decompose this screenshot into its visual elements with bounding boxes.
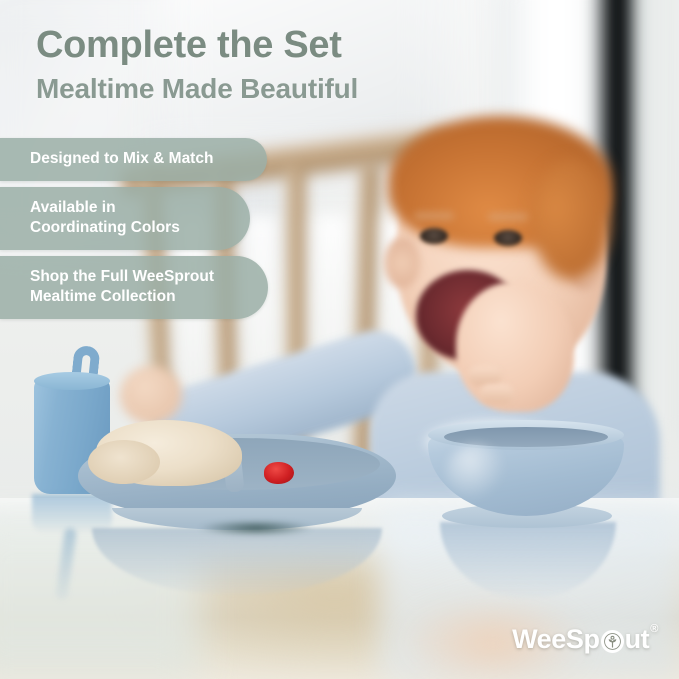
feature-pill-coordinating-colors: Available in Coordinating Colors [0,187,250,250]
product-marketing-image: Complete the Set Mealtime Made Beautiful… [0,0,679,679]
suction-bowl [420,418,632,544]
food-raspberry [264,462,294,484]
toddler-finger [468,366,502,386]
toddler-eye [494,230,522,246]
toddler-hand [456,282,574,412]
toddler-eye [420,228,448,244]
feature-pill-line: Available in [30,198,220,219]
brand-name-part1: WeeSp [512,624,600,655]
toddler-finger [480,384,514,404]
feature-pill-line: Designed to Mix & Match [30,149,237,170]
divided-suction-plate [78,424,396,544]
feature-pill-line: Coordinating Colors [30,218,220,239]
feature-pill-list: Designed to Mix & Match Available in Coo… [0,138,300,325]
toddler-eyebrow [488,213,528,221]
toddler-ear [384,238,420,288]
toddler-eyebrow [414,212,454,220]
bowl-highlight [446,444,506,502]
page-title: Complete the Set [36,24,596,67]
feature-pill-line: Mealtime Collection [30,287,238,308]
feature-pill-line: Shop the Full WeeSprout [30,267,238,288]
plate-shadow [198,520,314,536]
toddler-hair-side [532,160,610,280]
feature-pill-mix-and-match: Designed to Mix & Match [0,138,267,181]
food-oatmeal-lump [88,440,160,484]
toddler-far-hand [120,366,182,424]
registered-trademark-mark: ® [650,623,658,635]
page-subtitle: Mealtime Made Beautiful [36,73,596,105]
sprout-in-circle-icon [601,630,624,653]
brand-name-part2: ut [625,624,650,655]
feature-pill-shop-collection: Shop the Full WeeSprout Mealtime Collect… [0,256,268,319]
brand-logo: WeeSp ut ® [512,624,657,655]
cup-rim [34,372,110,390]
headline-block: Complete the Set Mealtime Made Beautiful [36,24,596,105]
